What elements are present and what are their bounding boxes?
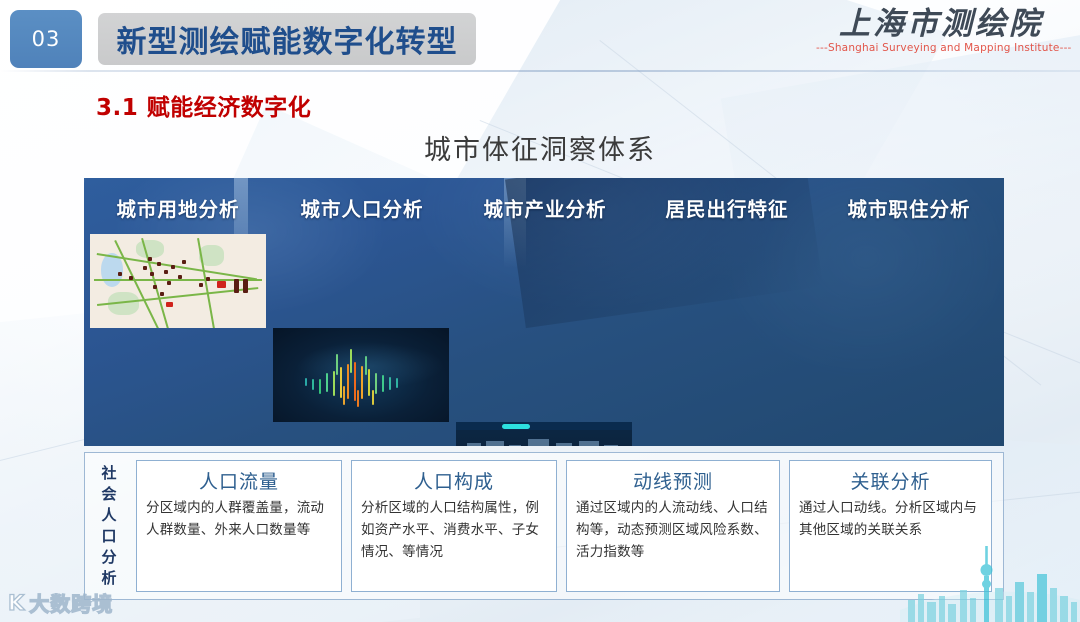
- building-block: [579, 441, 598, 446]
- column-header-label: 城市职住分析: [847, 193, 970, 222]
- column-header-label: 居民出行特征: [665, 193, 788, 222]
- card-title: 人口构成: [361, 467, 547, 494]
- column-header-label: 城市人口分析: [300, 193, 423, 222]
- column-header-2[interactable]: 城市产业分析: [455, 186, 635, 228]
- column-bar: [305, 378, 307, 386]
- thumbnail-city-3d-model[interactable]: [456, 422, 632, 446]
- building-block: [604, 445, 618, 446]
- map-poi: [153, 285, 157, 289]
- column-header-label: 城市产业分析: [483, 193, 606, 222]
- card-body: 通过区域内的人流动线、人口结构等，动态预测区域风险系数、活力指数等: [576, 497, 770, 563]
- section-number-label: 03: [32, 27, 61, 51]
- card-title: 关联分析: [799, 467, 982, 494]
- vertical-label-char: 分: [101, 547, 116, 568]
- column-bar: [365, 356, 367, 375]
- column-header-4[interactable]: 城市职住分析: [819, 186, 999, 228]
- card-title: 人口流量: [146, 467, 332, 494]
- map-green-area: [136, 240, 164, 259]
- content-title: 城市体征洞察体系: [0, 128, 1080, 167]
- map-poi: [118, 272, 122, 276]
- vertical-label-char: 析: [101, 568, 116, 589]
- map-poi-highlight: [166, 302, 173, 307]
- column-bar: [354, 362, 356, 401]
- column-bar: [326, 373, 328, 392]
- watermark: K 大数跨境: [8, 588, 113, 617]
- institute-logo: 上海市测绘院 ---Shanghai Surveying and Mapping…: [816, 4, 1066, 66]
- column-bar: [312, 379, 314, 390]
- dashboard-title-pill: [502, 424, 530, 429]
- map-poi: [148, 257, 152, 261]
- map-poi: [150, 272, 154, 276]
- column-bar: [396, 378, 398, 388]
- map-poi: [160, 292, 164, 296]
- watermark-logo-icon: K: [8, 591, 24, 615]
- map-poi: [206, 277, 210, 281]
- card-population-flow[interactable]: 人口流量 分区域内的人群覆盖量，流动人群数量、外来人口数量等: [136, 460, 342, 592]
- map-poi: [199, 283, 203, 287]
- map-poi: [243, 279, 248, 293]
- social-population-vertical-label: 社 会 人 口 分 析: [92, 458, 126, 594]
- card-title: 动线预测: [576, 467, 770, 494]
- column-header-label: 城市用地分析: [116, 193, 239, 222]
- section-title-bar: 新型测绘赋能数字化转型: [98, 13, 476, 65]
- section-title-label: 新型测绘赋能数字化转型: [117, 17, 458, 61]
- watermark-label: 大数跨境: [29, 588, 113, 617]
- column-bar: [333, 371, 335, 395]
- map-poi: [129, 276, 133, 280]
- institute-logo-en: ---Shanghai Surveying and Mapping Instit…: [816, 42, 1066, 54]
- map-poi: [178, 275, 182, 279]
- map-poi: [234, 279, 239, 293]
- building-block: [528, 439, 549, 446]
- building-block: [467, 443, 481, 446]
- institute-logo-cn: 上海市测绘院: [816, 4, 1066, 44]
- building-block: [509, 445, 521, 446]
- dashboard-header-bar: [456, 422, 632, 430]
- card-movement-prediction[interactable]: 动线预测 通过区域内的人流动线、人口结构等，动态预测区域风险系数、活力指数等: [566, 460, 780, 592]
- vertical-label-char: 社: [101, 463, 116, 484]
- building-block: [486, 441, 504, 446]
- card-population-composition[interactable]: 人口构成 分析区域的人口结构属性，例如资产水平、消费水平、子女情况、等情况: [351, 460, 557, 592]
- column-bar: [319, 379, 321, 394]
- map-poi: [157, 262, 161, 266]
- column-bar: [361, 366, 363, 400]
- shanghai-skyline-icon: [900, 530, 1080, 622]
- map-poi-highlight: [217, 281, 226, 288]
- vertical-label-char: 会: [101, 484, 116, 505]
- column-bar: [340, 367, 342, 397]
- map-poi: [143, 266, 147, 270]
- section-number-badge: 03: [10, 10, 82, 68]
- map-poi: [171, 265, 175, 269]
- column-bar: [389, 377, 391, 390]
- vertical-label-char: 口: [101, 526, 116, 547]
- column-bar: [375, 373, 377, 394]
- map-poi: [167, 281, 171, 285]
- column-bar: [368, 369, 370, 395]
- card-body: 分区域内的人群覆盖量，流动人群数量、外来人口数量等: [146, 497, 332, 541]
- insight-matrix-panel: 城市用地分析 城市人口分析 城市产业分析 居民出行特征 城市职住分析: [84, 178, 1004, 446]
- map-poi: [164, 270, 168, 274]
- column-header-0[interactable]: 城市用地分析: [88, 186, 268, 228]
- map-poi: [182, 260, 186, 264]
- subsection-title: 3.1 赋能经济数字化: [96, 88, 311, 122]
- thumbnail-land-use-map[interactable]: [90, 234, 266, 328]
- vertical-label-char: 人: [101, 505, 116, 526]
- column-bar: [382, 375, 384, 392]
- card-body: 分析区域的人口结构属性，例如资产水平、消费水平、子女情况、等情况: [361, 497, 547, 563]
- column-header-1[interactable]: 城市人口分析: [272, 186, 452, 228]
- column-header-3[interactable]: 居民出行特征: [637, 186, 817, 228]
- building-block: [556, 443, 572, 446]
- thumbnail-population-3d-columns[interactable]: [273, 328, 449, 422]
- column-bar: [347, 364, 349, 400]
- column-bar: [372, 390, 374, 405]
- header-divider: [0, 70, 1080, 72]
